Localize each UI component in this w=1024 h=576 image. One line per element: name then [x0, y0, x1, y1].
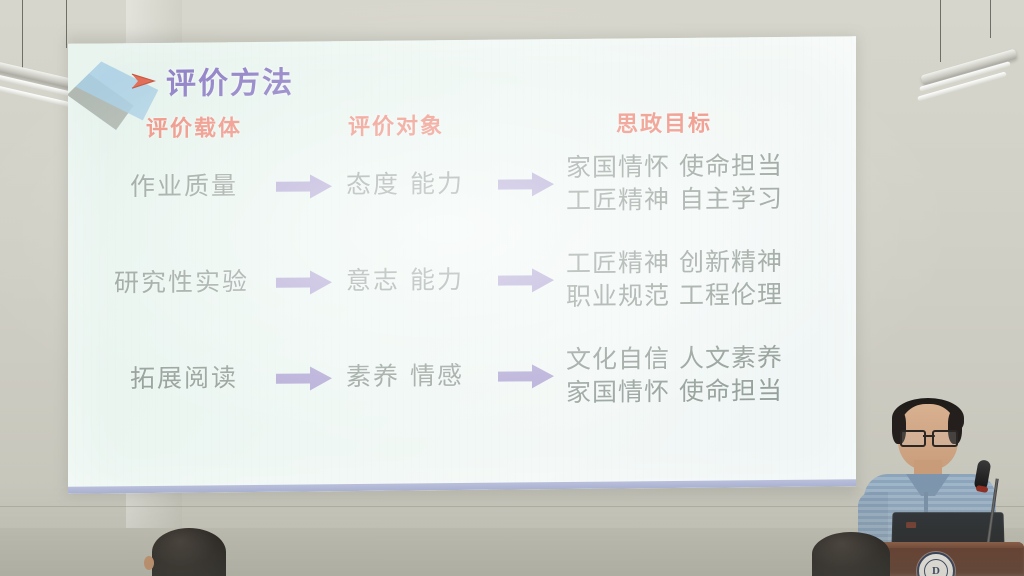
header-goal: 思政目标 — [616, 106, 712, 139]
page-title: 评价方法 — [166, 58, 294, 103]
row-goal-line1: 文化自信 人文素养 — [566, 341, 783, 376]
right-arrow-icon — [276, 269, 332, 296]
ceiling-lamp-right — [922, 0, 1024, 120]
right-arrow-icon — [498, 363, 554, 390]
row-goal-line2: 职业规范 工程伦理 — [566, 278, 783, 313]
right-arrow-icon — [498, 171, 554, 198]
row-goal-line2: 家国情怀 使命担当 — [566, 374, 783, 409]
row-carrier: 研究性实验 — [114, 262, 249, 299]
column-headers: 评价载体 评价对象 思政目标 — [68, 104, 856, 144]
row-goal: 工匠精神 创新精神 职业规范 工程伦理 — [566, 245, 783, 313]
audience-member-right — [812, 532, 890, 576]
row-object: 素养 情感 — [346, 356, 464, 393]
row-carrier: 拓展阅读 — [130, 358, 238, 395]
header-carrier: 评价载体 — [146, 110, 242, 143]
row-goal-line1: 家国情怀 使命担当 — [566, 149, 783, 184]
slide-title-row: 评价方法 — [130, 58, 294, 104]
glasses-icon — [900, 430, 958, 443]
row-object: 态度 能力 — [346, 164, 464, 201]
table-row: 研究性实验 意志 能力 工匠精神 创新精神 职业规范 工程伦理 — [68, 240, 856, 344]
row-goal: 家国情怀 使命担当 工匠精神 自主学习 — [566, 149, 783, 217]
table-row: 拓展阅读 素养 情感 文化自信 人文素养 家国情怀 使命担当 — [68, 336, 856, 440]
emblem-letter: D — [924, 559, 948, 576]
row-goal: 文化自信 人文素养 家国情怀 使命担当 — [566, 341, 783, 409]
right-arrow-icon — [276, 365, 332, 392]
university-emblem: D — [917, 552, 955, 576]
right-arrow-icon — [498, 267, 554, 294]
lecture-photo-screenshot: 评价方法 评价载体 评价对象 思政目标 作业质量 态度 能力 家国情怀 使命担当 — [0, 0, 1024, 576]
table-row: 作业质量 态度 能力 家国情怀 使命担当 工匠精神 自主学习 — [68, 144, 856, 248]
row-carrier: 作业质量 — [130, 166, 238, 203]
row-goal-line1: 工匠精神 创新精神 — [566, 245, 783, 280]
laptop-logo — [906, 522, 916, 528]
corner-notch — [68, 43, 120, 96]
arrow-bullet-icon — [130, 70, 156, 92]
slide-rows: 作业质量 态度 能力 家国情怀 使命担当 工匠精神 自主学习 研究性实验 — [68, 144, 856, 440]
audience-member-left — [152, 528, 226, 576]
row-goal-line2: 工匠精神 自主学习 — [566, 182, 783, 217]
row-object: 意志 能力 — [346, 260, 464, 297]
projected-slide: 评价方法 评价载体 评价对象 思政目标 作业质量 态度 能力 家国情怀 使命担当 — [68, 36, 856, 494]
header-object: 评价对象 — [348, 108, 444, 141]
right-arrow-icon — [276, 173, 332, 200]
